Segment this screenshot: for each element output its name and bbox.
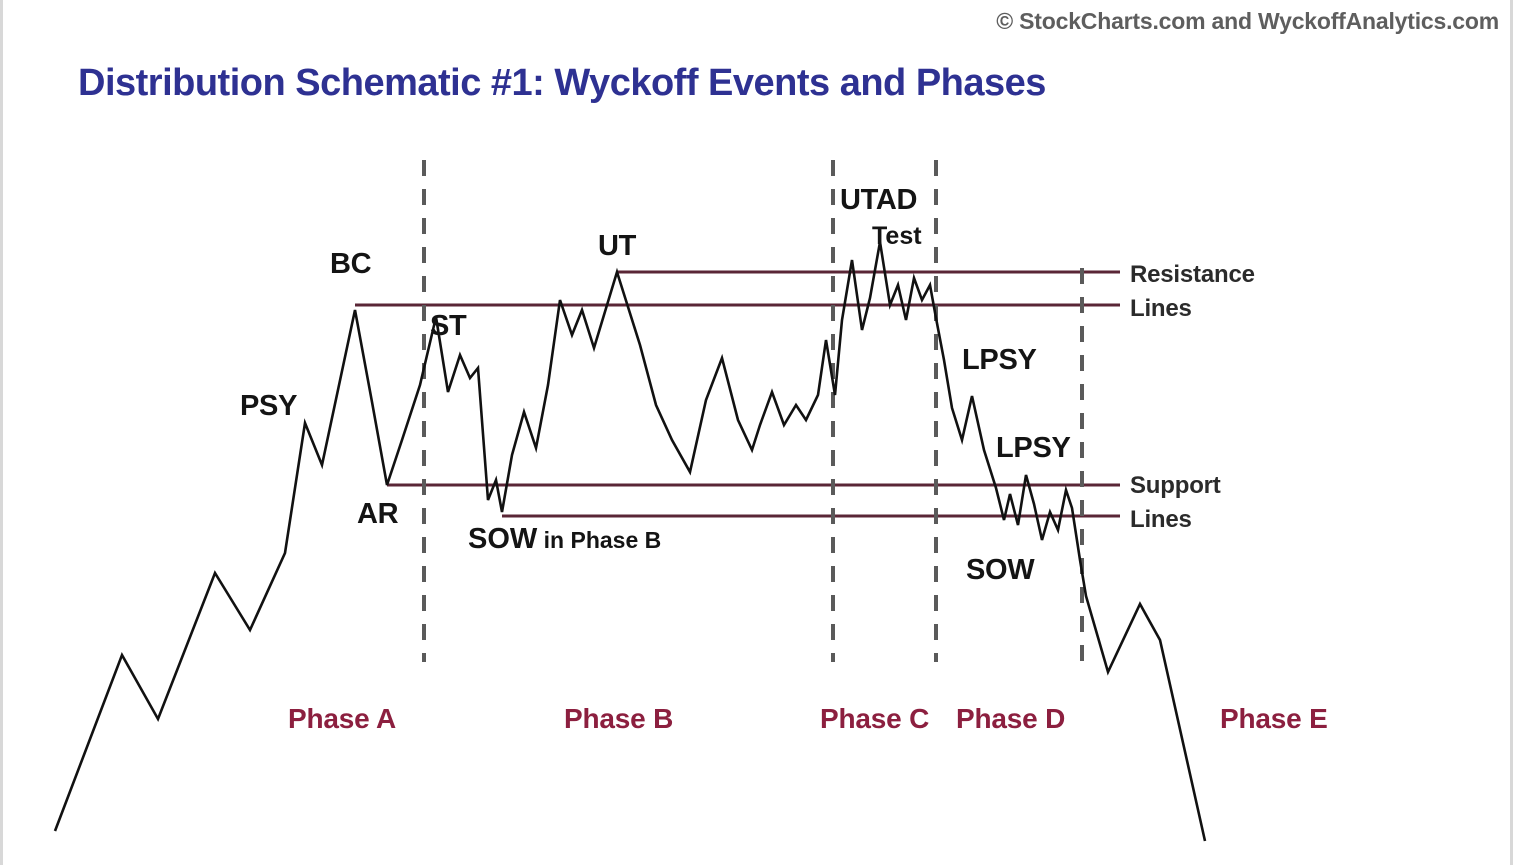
event-label-ar: AR <box>357 500 398 529</box>
side-label-resistance: ResistanceLines <box>1130 258 1255 326</box>
wyckoff-chart <box>0 0 1513 865</box>
event-label-lpsy-2: LPSY <box>996 434 1071 463</box>
phase-label-phase-b: Phase B <box>564 703 673 735</box>
level-lines-group <box>355 272 1120 516</box>
phase-dividers-group <box>424 160 1082 662</box>
sow-phase-b-secondary: in Phase B <box>537 527 661 553</box>
schematic-canvas: © StockCharts.com and WyckoffAnalytics.c… <box>0 0 1513 865</box>
event-label-utad: UTAD <box>840 186 917 215</box>
event-label-test: Test <box>872 224 922 249</box>
side-label-support: SupportLines <box>1130 469 1221 537</box>
sow-phase-b-label: SOW in Phase B <box>468 525 661 554</box>
event-label-st: ST <box>430 312 466 341</box>
phase-label-phase-d: Phase D <box>956 703 1065 735</box>
side-label-resistance-line2: Lines <box>1130 292 1255 326</box>
sow-phase-b-primary: SOW <box>468 523 537 555</box>
event-label-psy: PSY <box>240 392 297 421</box>
phase-label-phase-c: Phase C <box>820 703 929 735</box>
event-label-lpsy-1: LPSY <box>962 346 1037 375</box>
event-label-sow-d: SOW <box>966 556 1034 585</box>
phase-label-phase-e: Phase E <box>1220 703 1328 735</box>
side-label-resistance-line1: Resistance <box>1130 258 1255 292</box>
event-label-bc: BC <box>330 250 371 279</box>
phase-label-phase-a: Phase A <box>288 703 396 735</box>
event-label-ut: UT <box>598 232 636 261</box>
side-label-support-line1: Support <box>1130 469 1221 503</box>
side-label-support-line2: Lines <box>1130 503 1221 537</box>
